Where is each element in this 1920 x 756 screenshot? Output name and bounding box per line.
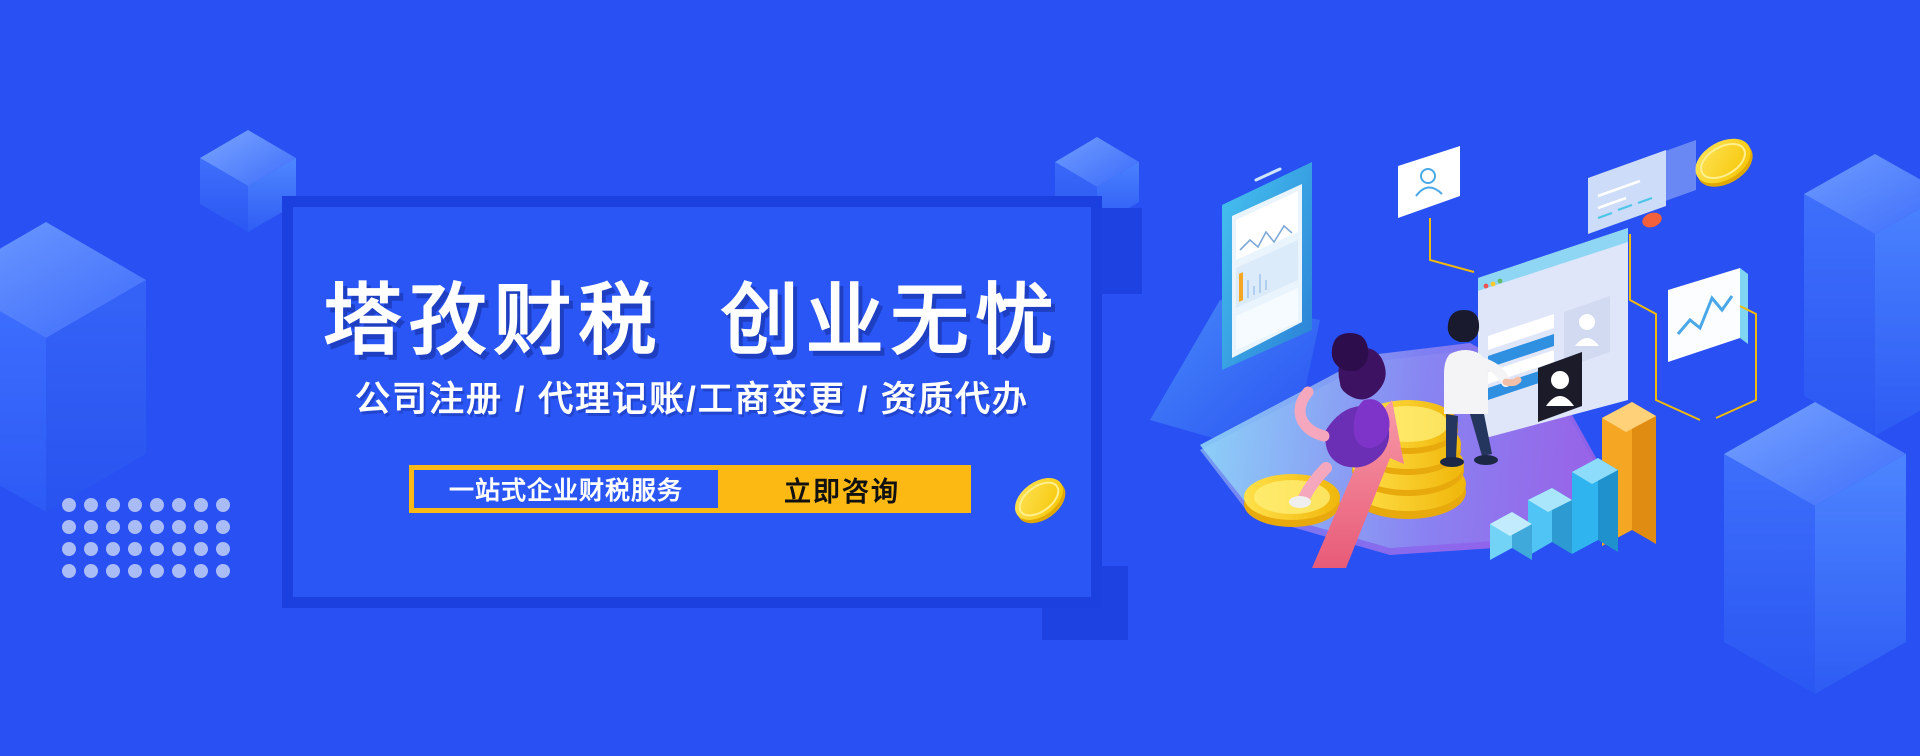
dashboard-screen: [1478, 228, 1628, 440]
services-list: 公司注册 / 代理记账/工商变更 / 资质代办: [293, 382, 1091, 417]
business-finance-illustration: [1140, 100, 1760, 570]
page-title: 塔孜财税 创业无忧: [293, 281, 1091, 359]
profile-card: [1398, 146, 1474, 272]
tower-right-upper-icon: [1800, 150, 1920, 440]
content-frame: 塔孜财税 创业无忧 公司注册 / 代理记账/工商变更 / 资质代办 一站式企业财…: [282, 196, 1102, 608]
status-badge: 一站式企业财税服务: [414, 470, 718, 508]
tower-left-edge-icon: [0, 216, 150, 516]
cta-bar: 一站式企业财税服务 立即咨询: [409, 465, 971, 513]
dot-grid-decoration: [62, 498, 238, 586]
consult-now-button[interactable]: 立即咨询: [718, 470, 966, 508]
marketing-banner: 塔孜财税 创业无忧 公司注册 / 代理记账/工商变更 / 资质代办 一站式企业财…: [0, 0, 1920, 756]
line-chart-card: [1668, 268, 1756, 418]
